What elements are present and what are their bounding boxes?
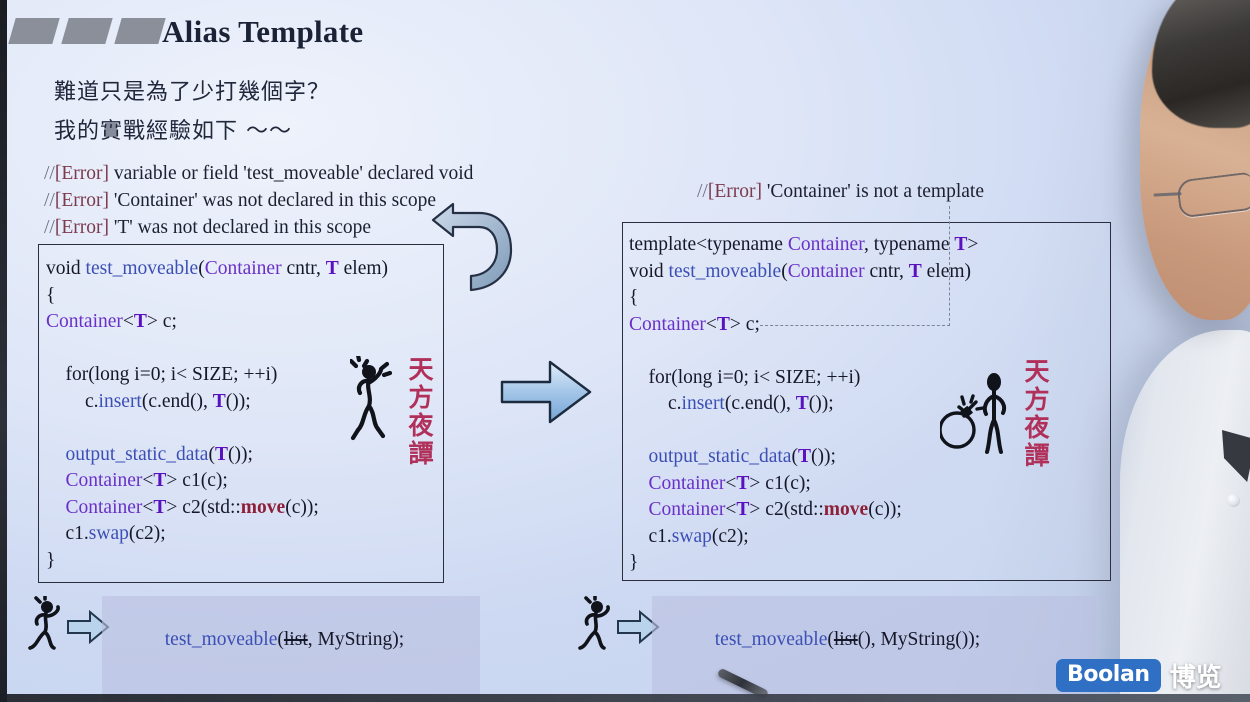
screen-left-edge [0,0,7,702]
screen-bottom-edge [0,694,1250,702]
code-token-fn: test_moveable [86,258,199,279]
code-line: Container<T> c1(c); [629,471,978,498]
code-token-T: T [153,470,166,491]
code-token-type: Container [649,499,726,520]
code-token-type: Container [788,234,864,255]
call-struck-arg: list [284,629,308,650]
leader-line-horizontal [760,325,950,326]
call-struck-arg: list [834,629,858,650]
code-token-T: T [796,393,809,414]
comment-slashes: // [44,163,55,184]
call-strip-left: test_moveable(list, MyString); test_move… [102,596,480,702]
code-token-T: T [153,497,166,518]
subtitle-line-1: 難道只是為了少打幾個字？ [54,74,330,106]
error-tag: [Error] [55,163,109,184]
comment-slashes: // [44,217,55,238]
brand-name-cn: 博览 [1170,657,1222,694]
code-line: c1.swap(c2); [46,521,388,548]
code-token-T: T [215,444,228,465]
code-line: c.insert(c.end(), T()); [46,389,388,416]
page-title: Alias Template [162,14,363,50]
running-stick-figure-icon [24,596,70,652]
running-stick-figure-icon [574,596,620,652]
call-line: test_moveable(list, MyString); [116,601,468,679]
code-token-T: T [954,234,967,255]
brand-logo: Boolan 博览 [1056,657,1222,694]
code-line: Container<T> c2(std::move(c)); [629,497,978,524]
code-token-type: Container [788,261,865,282]
code-text-right: template<typename Container, typename T>… [629,232,978,577]
code-line [629,418,978,445]
call-fn-name: test_moveable [165,629,278,650]
error-comment-right-1: //[Error] 'Container' is not a template [697,181,984,203]
error-tag: [Error] [55,217,109,238]
code-token-type: Container [66,497,143,518]
code-token-T: T [213,391,226,412]
slide-screenshot: Alias Template 難道只是為了少打幾個字？ 我的實戰經驗如下 〜〜 … [0,0,1250,702]
error-text: 'Container' is not a template [762,181,984,202]
call-fn-name: test_moveable [715,629,828,650]
code-token-type: Container [649,473,726,494]
code-line: void test_moveable(Container cntr, T ele… [46,256,388,283]
title-decoration-bars [12,18,162,44]
call-rest: (), MyString()); [858,629,980,650]
code-line [46,415,388,442]
code-token-type: Container [46,311,123,332]
code-token-T: T [736,473,749,494]
error-text: 'T' was not declared in this scope [109,217,371,238]
code-line [46,336,388,363]
error-text: 'Container' was not declared in this sco… [109,190,436,211]
code-line: } [629,550,978,577]
error-comment-left-2: //[Error] 'Container' was not declared i… [44,190,436,212]
call-line: test_moveable(list(), MyString()); [666,601,1084,679]
error-text: variable or field 'test_moveable' declar… [109,163,473,184]
sticker-text-right: 天方夜譚 [1020,358,1051,470]
code-token-fn: output_static_data [66,444,209,465]
code-token-move: move [824,499,868,520]
code-line: { [629,285,978,312]
code-line: for(long i=0; i< SIZE; ++i) [46,362,388,389]
call-strip-right: test_moveable(list(), MyString()); test_… [652,596,1096,702]
error-comment-left-1: //[Error] variable or field 'test_moveab… [44,163,473,185]
brand-badge: Boolan [1056,659,1161,692]
code-token-type: Container [66,470,143,491]
code-line: void test_moveable(Container cntr, T ele… [629,259,978,286]
error-comment-left-3: //[Error] 'T' was not declared in this s… [44,217,371,239]
code-token-move: move [241,497,285,518]
curved-up-left-arrow-icon [425,198,523,306]
code-token-fn: insert [682,393,725,414]
comment-slashes: // [44,190,55,211]
code-token-fn: output_static_data [649,446,792,467]
code-line [629,338,978,365]
code-token-T: T [909,261,922,282]
code-token-T: T [717,314,730,335]
comment-slashes: // [697,181,708,202]
code-line: c.insert(c.end(), T()); [629,391,978,418]
sticker-text-left: 天方夜譚 [404,356,435,468]
code-line: } [46,548,388,575]
leader-line-vertical [949,206,950,326]
bomb-and-stick-figure-icon [940,358,1014,462]
code-text-left: void test_moveable(Container cntr, T ele… [46,256,388,574]
code-token-fn: swap [672,526,712,547]
slide-content: Alias Template 難道只是為了少打幾個字？ 我的實戰經驗如下 〜〜 … [0,0,1250,702]
code-token-T: T [798,446,811,467]
code-line: { [46,283,388,310]
code-token-T: T [134,311,147,332]
code-line: template<typename Container, typename T> [629,232,978,259]
code-token-fn: insert [99,391,142,412]
subtitle-line-2: 我的實戰經驗如下 〜〜 [54,113,292,145]
error-tag: [Error] [55,190,109,211]
code-line: Container<T> c2(std::move(c)); [46,495,388,522]
dancing-stick-figure-icon [350,356,392,460]
code-token-fn: test_moveable [669,261,782,282]
code-line: c1.swap(c2); [629,524,978,551]
code-line: for(long i=0; i< SIZE; ++i) [629,365,978,392]
code-token-type: Container [629,314,706,335]
code-line: Container<T> c; [46,309,388,336]
code-token-T: T [736,499,749,520]
call-rest: , MyString); [308,629,404,650]
code-line: output_static_data(T()); [46,442,388,469]
code-token-fn: swap [89,523,129,544]
code-line: Container<T> c1(c); [46,468,388,495]
code-line: output_static_data(T()); [629,444,978,471]
code-token-T: T [326,258,339,279]
code-token-type: Container [205,258,282,279]
error-tag: [Error] [708,181,762,202]
right-arrow-icon [500,358,592,426]
